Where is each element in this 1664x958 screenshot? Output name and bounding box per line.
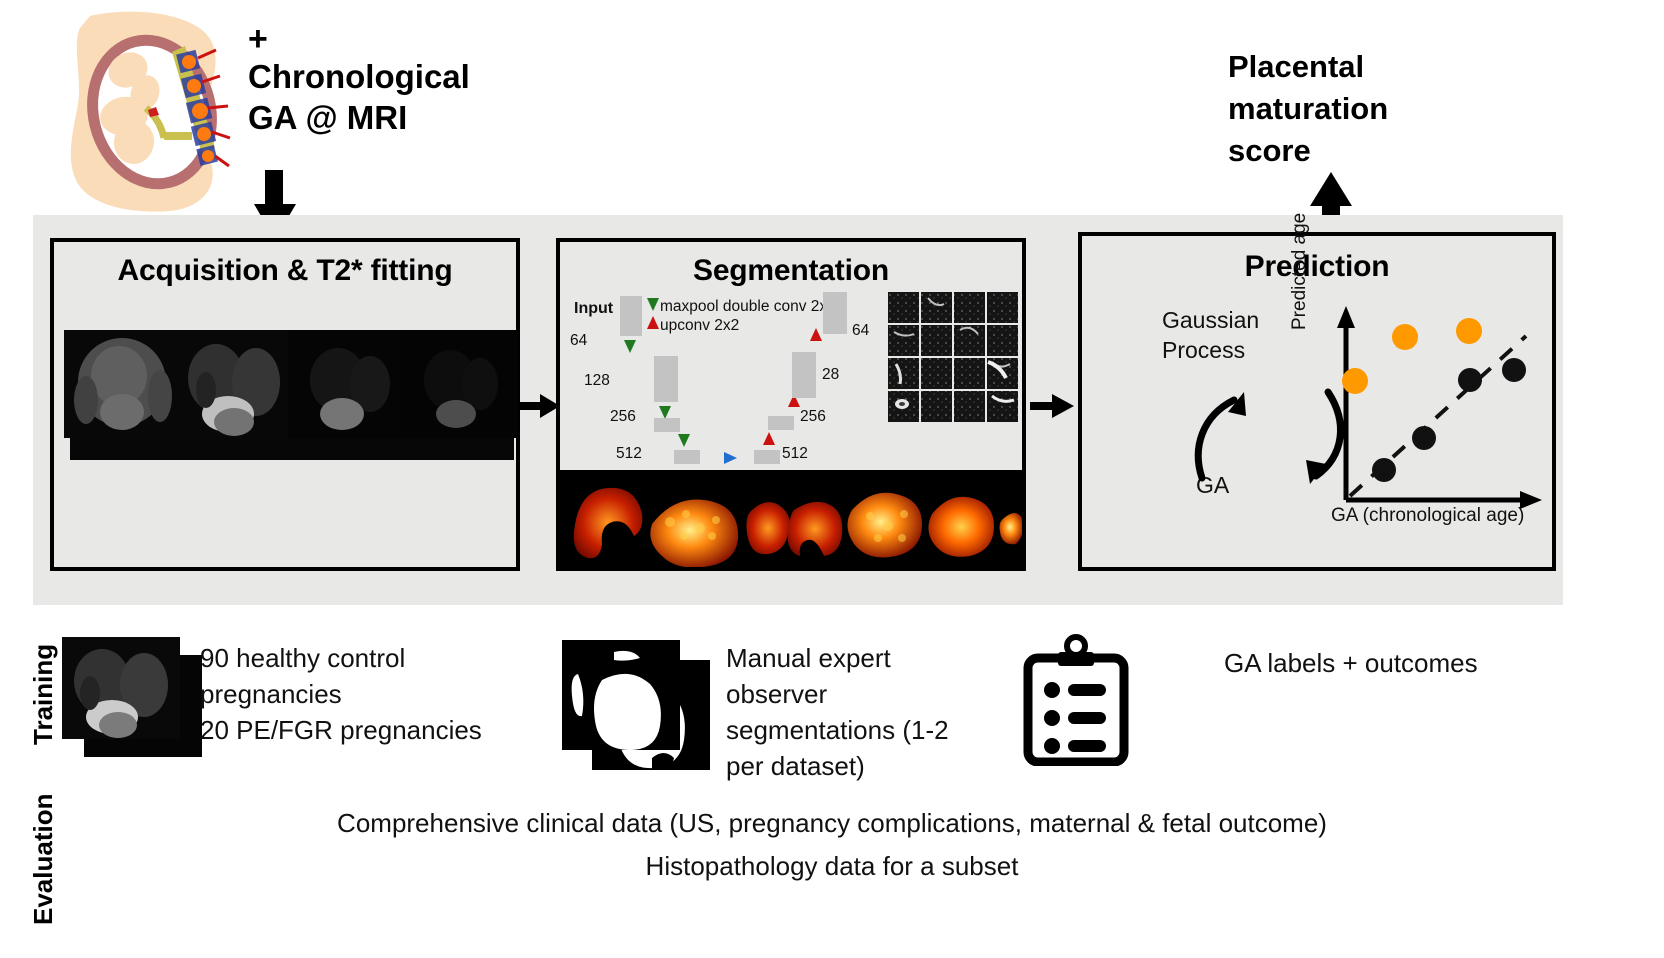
unet-decoder-label-28: 28 [822, 366, 839, 384]
unet-input-label: Input [574, 300, 613, 318]
scatter-y-axis-label: Predicted age [1289, 213, 1311, 330]
arrow-segmentation-to-prediction [1030, 392, 1074, 425]
unet-block-encoder-4 [674, 450, 700, 464]
unet-decoder-label-512: 512 [782, 445, 808, 463]
manual-segmentation-thumbnails [562, 640, 714, 774]
prediction-scatter-plot [1330, 300, 1545, 520]
segmentation-text-line-2: observer [726, 679, 827, 709]
unet-legend-maxpool: maxpool double conv 2x2 [660, 298, 836, 316]
output-line-3: score [1228, 133, 1311, 168]
unet-block-decoder-2 [792, 352, 816, 398]
segmentation-text-line-4: per dataset) [726, 751, 865, 781]
upconv-arrow-icon [810, 328, 822, 341]
mri-tile [176, 330, 294, 438]
unet-block-decoder-1 [823, 292, 847, 334]
scatter-point-pefgr [1392, 324, 1418, 350]
panel-prediction-title: Prediction [1082, 250, 1552, 284]
unet-decoder-label-256: 256 [800, 408, 826, 426]
unet-encoder-label-64: 64 [570, 332, 587, 350]
placenta-heatmap-strip [560, 470, 1022, 567]
unet-block-decoder-4 [754, 450, 780, 464]
arrow-acquisition-to-segmentation [520, 392, 560, 425]
scatter-point-control [1412, 426, 1436, 450]
scatter-point-control [1372, 458, 1396, 482]
scatter-point-control [1502, 358, 1526, 382]
unet-block-encoder-2 [654, 356, 678, 402]
training-dataset-text: 90 healthy control pregnancies 20 PE/FGR… [200, 640, 530, 748]
scatter-x-axis-label: GA (chronological age) [1331, 505, 1524, 527]
maxpool-arrow-icon [678, 434, 690, 447]
maxpool-arrow-icon [624, 340, 636, 353]
training-text-line-1: 90 healthy control [200, 643, 405, 673]
segmentation-text-line-3: segmentations (1-2 [726, 715, 949, 745]
segmentation-text-line-1: Manual expert [726, 643, 891, 673]
output-line-1: Placental [1228, 49, 1364, 84]
side-label-training: Training [28, 644, 59, 745]
chronological-ga-label: + Chronological GA @ MRI [248, 22, 548, 138]
training-text-line-3: 20 PE/FGR pregnancies [200, 715, 482, 745]
panel-segmentation-title: Segmentation [560, 254, 1022, 288]
panel-acquisition-title: Acquisition & T2* fitting [54, 254, 516, 288]
unet-decoder-label-64: 64 [852, 322, 869, 340]
gaussian-process-label: Gaussian Process [1162, 305, 1259, 365]
feature-map-grid [888, 292, 1018, 422]
unet-encoder-label-128: 128 [584, 372, 610, 390]
training-text-line-2: pregnancies [200, 679, 342, 709]
training-mri-thumbnails [62, 637, 202, 757]
gp-line-2: Process [1162, 337, 1245, 363]
ga-labels-outcomes-text: GA labels + outcomes [1224, 648, 1478, 679]
segmentation-mask-tile [562, 640, 680, 750]
scatter-point-control [1458, 368, 1482, 392]
chronological-line-1: Chronological [248, 58, 470, 95]
histopathology-line: Histopathology data for a subset [0, 851, 1664, 882]
unet-encoder-label-256: 256 [610, 408, 636, 426]
upconv-arrow-icon [763, 432, 775, 445]
unet-encoder-label-512: 512 [616, 445, 642, 463]
unet-block-encoder-1 [620, 296, 642, 336]
mri-tile [400, 330, 518, 438]
plus-icon: + [248, 22, 548, 56]
chronological-line-2: GA @ MRI [248, 99, 407, 136]
scatter-point-pefgr [1342, 368, 1368, 394]
mri-tile [288, 330, 406, 438]
clinical-data-line: Comprehensive clinical data (US, pregnan… [0, 808, 1664, 839]
upconv-arrow-icon [647, 316, 659, 329]
clipboard-icon [1022, 634, 1130, 766]
manual-segmentation-text: Manual expert observer segmentations (1-… [726, 640, 976, 784]
training-mri-tile [62, 637, 180, 739]
skip-connection-arrow-icon [724, 452, 737, 464]
gp-line-1: Gaussian [1162, 307, 1259, 333]
unet-block-encoder-3 [654, 418, 680, 432]
maxpool-arrow-icon [647, 298, 659, 311]
placenta-illustration [52, 8, 252, 213]
placental-maturation-score-label: Placental maturation score [1228, 46, 1528, 172]
output-line-2: maturation [1228, 91, 1388, 126]
mri-series-strip [64, 330, 514, 460]
unet-legend-upconv: upconv 2x2 [660, 317, 739, 335]
unet-block-decoder-3 [768, 416, 794, 430]
mri-tile [64, 330, 182, 438]
scatter-point-pefgr [1456, 318, 1482, 344]
